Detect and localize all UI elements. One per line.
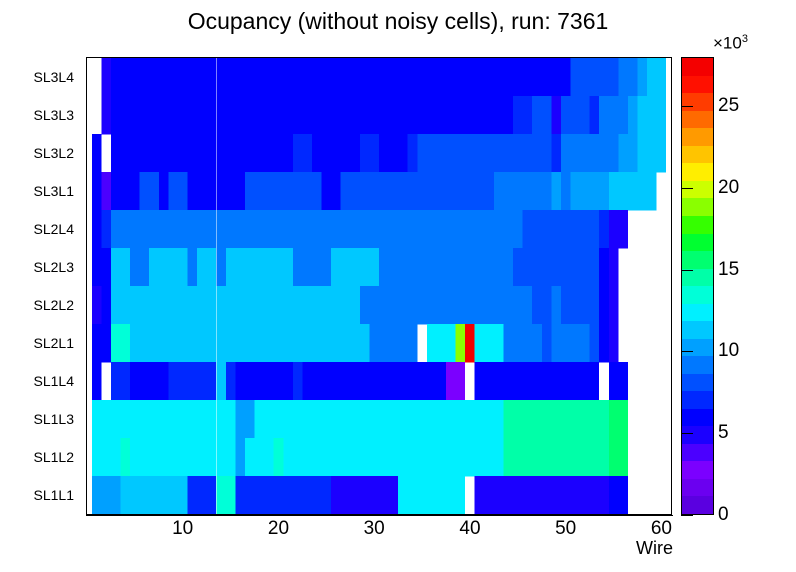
heatmap-cell: [408, 134, 418, 172]
heatmap-cell: [322, 248, 332, 286]
heatmap-cell: [101, 210, 111, 248]
heatmap-cell: [369, 134, 379, 172]
heatmap-cell: [494, 286, 504, 324]
heatmap-cell: [456, 210, 466, 248]
heatmap-cell: [245, 96, 255, 134]
heatmap-cell: [207, 362, 217, 400]
heatmap-cell: [168, 438, 178, 476]
heatmap-cell: [523, 134, 533, 172]
heatmap-cell: [570, 438, 580, 476]
heatmap-cell: [101, 286, 111, 324]
heatmap-cell: [101, 400, 111, 438]
colorbar-band: [682, 321, 713, 339]
heatmap-cell: [235, 362, 245, 400]
heatmap-cell: [130, 438, 140, 476]
heatmap-cell: [331, 438, 341, 476]
heatmap-cell: [599, 96, 609, 134]
heatmap-cell: [389, 400, 399, 438]
heatmap-cell: [121, 248, 131, 286]
heatmap-cell: [197, 438, 207, 476]
heatmap-cell: [130, 58, 140, 96]
heatmap-cell: [255, 96, 265, 134]
y-axis-tick-label-sl3l1: SL3L1: [34, 183, 74, 199]
heatmap-cell: [628, 96, 638, 134]
heatmap-cell: [580, 400, 590, 438]
y-axis-labels: SL3L4SL3L3SL3L2SL3L1SL2L4SL2L3SL2L2SL2L1…: [0, 0, 74, 572]
heatmap-cell: [542, 134, 552, 172]
heatmap-cell: [197, 324, 207, 362]
heatmap-cell: [503, 134, 513, 172]
heatmap-cell: [178, 134, 188, 172]
heatmap-cell: [542, 476, 552, 514]
heatmap-cell: [369, 476, 379, 514]
heatmap-cell: [647, 172, 657, 210]
heatmap-cell: [121, 362, 131, 400]
heatmap-cell: [341, 248, 351, 286]
heatmap-cell: [245, 324, 255, 362]
heatmap-cell: [322, 438, 332, 476]
heatmap-cell: [293, 324, 303, 362]
heatmap-cell: [618, 400, 628, 438]
heatmap-cell: [379, 362, 389, 400]
heatmap-cell: [551, 324, 561, 362]
heatmap-cell: [427, 134, 437, 172]
heatmap-cell: [178, 286, 188, 324]
heatmap-cell: [274, 324, 284, 362]
heatmap-cell: [255, 172, 265, 210]
heatmap-cell: [465, 438, 475, 476]
heatmap-cell: [302, 96, 312, 134]
heatmap-cell: [580, 438, 590, 476]
heatmap-cell: [494, 438, 504, 476]
heatmap-cells: [87, 58, 671, 514]
heatmap-cell: [350, 248, 360, 286]
heatmap-cell: [408, 172, 418, 210]
heatmap-cell: [513, 210, 523, 248]
heatmap-cell: [427, 58, 437, 96]
heatmap-cell: [207, 400, 217, 438]
heatmap-cell: [369, 210, 379, 248]
heatmap-cell: [293, 362, 303, 400]
heatmap-cell: [503, 96, 513, 134]
heatmap-cell: [456, 286, 466, 324]
heatmap-cell: [360, 438, 370, 476]
heatmap-cell: [226, 324, 236, 362]
heatmap-cell: [188, 438, 198, 476]
heatmap-cell: [216, 324, 226, 362]
heatmap-cell: [542, 400, 552, 438]
heatmap-cell: [350, 96, 360, 134]
heatmap-cell: [149, 438, 159, 476]
heatmap-cell: [570, 324, 580, 362]
colorbar-band: [682, 93, 713, 111]
heatmap-cell: [369, 96, 379, 134]
heatmap-cell: [427, 438, 437, 476]
heatmap-cell: [523, 324, 533, 362]
heatmap-cell: [599, 438, 609, 476]
heatmap-cell: [255, 210, 265, 248]
heatmap-cell: [417, 476, 427, 514]
colorbar-band: [682, 426, 713, 444]
heatmap-cell: [178, 438, 188, 476]
heatmap-cell: [446, 400, 456, 438]
colorbar-exponent: ×103: [713, 33, 748, 54]
heatmap-cell: [475, 210, 485, 248]
heatmap-cell: [207, 58, 217, 96]
heatmap-cell: [389, 248, 399, 286]
colorbar-band: [682, 234, 713, 252]
heatmap-cell: [341, 286, 351, 324]
heatmap-cell: [312, 286, 322, 324]
heatmap-cell: [159, 134, 169, 172]
heatmap-cell: [216, 286, 226, 324]
heatmap-cell: [590, 400, 600, 438]
heatmap-cell: [178, 324, 188, 362]
heatmap-cell: [456, 172, 466, 210]
heatmap-cell: [408, 96, 418, 134]
heatmap-cell: [130, 210, 140, 248]
heatmap-cell: [436, 324, 446, 362]
heatmap-cell: [226, 476, 236, 514]
heatmap-cell: [484, 286, 494, 324]
colorbar[interactable]: [681, 57, 714, 515]
heatmap-cell: [580, 324, 590, 362]
heatmap-cell: [159, 248, 169, 286]
heatmap-cell: [523, 248, 533, 286]
heatmap-cell: [341, 210, 351, 248]
heatmap-cell: [264, 172, 274, 210]
heatmap-cell: [609, 476, 619, 514]
y-axis-tick-label-sl2l2: SL2L2: [34, 297, 74, 313]
heatmap-cell: [389, 324, 399, 362]
heatmap-cell: [350, 172, 360, 210]
heatmap-cell: [216, 400, 226, 438]
heatmap-cell: [484, 134, 494, 172]
heatmap-cell: [235, 96, 245, 134]
heatmap-cell: [283, 400, 293, 438]
heatmap-cell: [513, 400, 523, 438]
heatmap-cell: [618, 58, 628, 96]
heatmap-cell: [427, 476, 437, 514]
heatmap-cell: [178, 476, 188, 514]
heatmap-cell: [312, 248, 322, 286]
x-axis-tick-label: 30: [364, 518, 385, 540]
heatmap-cell: [647, 96, 657, 134]
heatmap-cell: [264, 210, 274, 248]
heatmap-cell: [235, 400, 245, 438]
heatmap-cell: [494, 362, 504, 400]
heatmap-cell: [599, 172, 609, 210]
heatmap-cell: [465, 172, 475, 210]
heatmap-cell: [226, 286, 236, 324]
heatmap-cell: [618, 476, 628, 514]
heatmap-cell: [264, 96, 274, 134]
colorbar-band: [682, 391, 713, 409]
heatmap-cell: [379, 134, 389, 172]
heatmap-cell: [398, 172, 408, 210]
colorbar-band: [682, 163, 713, 181]
heatmap-cell: [542, 210, 552, 248]
heatmap-cell: [350, 58, 360, 96]
heatmap-cell: [436, 134, 446, 172]
heatmap-cell: [178, 362, 188, 400]
heatmap-cell: [140, 172, 150, 210]
heatmap-cell: [417, 210, 427, 248]
heatmap-cell: [427, 248, 437, 286]
heatmap-cell: [130, 324, 140, 362]
heatmap-cell: [216, 248, 226, 286]
heatmap-cell: [149, 210, 159, 248]
heatmap-cell: [130, 134, 140, 172]
heatmap-cell: [446, 362, 456, 400]
heatmap-cell: [599, 324, 609, 362]
heatmap-cell: [322, 400, 332, 438]
colorbar-band: [682, 198, 713, 216]
heatmap-cell: [561, 286, 571, 324]
heatmap-cell: [121, 172, 131, 210]
heatmap-cell: [188, 58, 198, 96]
heatmap-cell: [590, 248, 600, 286]
heatmap-cell: [149, 286, 159, 324]
heatmap-cell: [264, 248, 274, 286]
heatmap-cell: [417, 286, 427, 324]
heatmap-cell: [360, 210, 370, 248]
heatmap-cell: [149, 96, 159, 134]
heatmap-cell: [264, 286, 274, 324]
heatmap-cell: [532, 438, 542, 476]
heatmap-cell: [456, 248, 466, 286]
heatmap-cell: [140, 134, 150, 172]
heatmap-cell: [398, 58, 408, 96]
heatmap-cell: [92, 324, 102, 362]
heatmap-cell: [322, 476, 332, 514]
heatmap-cell: [542, 362, 552, 400]
heatmap-cell: [360, 134, 370, 172]
heatmap-cell: [312, 438, 322, 476]
heatmap-cell: [551, 96, 561, 134]
heatmap-cell: [580, 210, 590, 248]
heatmap-cell: [609, 96, 619, 134]
heatmap-cell: [235, 438, 245, 476]
heatmap-cell: [322, 172, 332, 210]
heatmap-cell: [570, 210, 580, 248]
heatmap-cell: [628, 58, 638, 96]
heatmap-cell: [341, 438, 351, 476]
heatmap-cell: [389, 58, 399, 96]
heatmap-cell: [551, 400, 561, 438]
heatmap-cell: [408, 324, 418, 362]
heatmap-cell: [111, 400, 121, 438]
heatmap-cell: [398, 400, 408, 438]
colorbar-band: [682, 444, 713, 462]
heatmap-cell: [618, 172, 628, 210]
heatmap-cell: [130, 172, 140, 210]
heatmap-cell: [494, 324, 504, 362]
heatmap-cell: [494, 58, 504, 96]
heatmap-cell: [207, 172, 217, 210]
heatmap-cell: [111, 438, 121, 476]
heatmap-cell: [417, 172, 427, 210]
heatmap-plot-area[interactable]: [86, 57, 672, 515]
heatmap-cell: [436, 476, 446, 514]
heatmap-cell: [121, 324, 131, 362]
heatmap-cell: [657, 96, 667, 134]
heatmap-cell: [570, 476, 580, 514]
heatmap-cell: [159, 210, 169, 248]
heatmap-cell: [609, 438, 619, 476]
heatmap-cell: [216, 172, 226, 210]
heatmap-cell: [121, 476, 131, 514]
heatmap-cell: [350, 476, 360, 514]
heatmap-cell: [503, 286, 513, 324]
heatmap-cell: [130, 248, 140, 286]
colorbar-tick-label: 10: [718, 340, 739, 362]
colorbar-band: [682, 111, 713, 129]
colorbar-tick: [681, 270, 693, 271]
colorbar-band: [682, 128, 713, 146]
heatmap-cell: [417, 248, 427, 286]
heatmap-cell: [542, 96, 552, 134]
colorbar-band: [682, 76, 713, 94]
heatmap-cell: [235, 210, 245, 248]
heatmap-cell: [427, 286, 437, 324]
heatmap-cell: [130, 476, 140, 514]
heatmap-cell: [475, 58, 485, 96]
heatmap-cell: [398, 134, 408, 172]
heatmap-cell: [302, 210, 312, 248]
heatmap-cell: [111, 172, 121, 210]
heatmap-cell: [523, 476, 533, 514]
heatmap-cell: [532, 172, 542, 210]
heatmap-cell: [523, 362, 533, 400]
heatmap-cell: [446, 324, 456, 362]
heatmap-cell: [360, 362, 370, 400]
heatmap-cell: [570, 134, 580, 172]
heatmap-cell: [389, 286, 399, 324]
heatmap-cell: [580, 476, 590, 514]
heatmap-cell: [130, 400, 140, 438]
heatmap-cell: [207, 96, 217, 134]
heatmap-cell: [312, 324, 322, 362]
heatmap-cell: [350, 210, 360, 248]
heatmap-cell: [322, 210, 332, 248]
heatmap-cell: [475, 248, 485, 286]
heatmap-cell: [503, 210, 513, 248]
heatmap-cell: [484, 58, 494, 96]
heatmap-cell: [360, 248, 370, 286]
heatmap-cell: [523, 210, 533, 248]
heatmap-cell: [188, 248, 198, 286]
heatmap-cell: [302, 362, 312, 400]
y-axis-line: [86, 57, 87, 516]
heatmap-cell: [188, 400, 198, 438]
heatmap-cell: [264, 324, 274, 362]
heatmap-cell: [216, 362, 226, 400]
heatmap-cell: [245, 248, 255, 286]
heatmap-cell: [389, 362, 399, 400]
heatmap-cell: [207, 210, 217, 248]
heatmap-cell: [417, 58, 427, 96]
heatmap-cell: [178, 248, 188, 286]
heatmap-cell: [101, 438, 111, 476]
heatmap-cell: [121, 286, 131, 324]
heatmap-cell: [188, 362, 198, 400]
heatmap-cell: [590, 134, 600, 172]
heatmap-cell: [207, 134, 217, 172]
colorbar-band: [682, 251, 713, 269]
heatmap-cell: [302, 400, 312, 438]
heatmap-cell: [283, 58, 293, 96]
heatmap-cell: [188, 286, 198, 324]
heatmap-cell: [283, 134, 293, 172]
heatmap-cell: [197, 96, 207, 134]
heatmap-cell: [484, 438, 494, 476]
heatmap-cell: [226, 438, 236, 476]
heatmap-cell: [101, 324, 111, 362]
heatmap-cell: [446, 248, 456, 286]
heatmap-cell: [465, 324, 475, 362]
heatmap-cell: [590, 58, 600, 96]
heatmap-cell: [255, 58, 265, 96]
heatmap-cell: [609, 58, 619, 96]
page-title: Ocupancy (without noisy cells), run: 736…: [0, 8, 796, 35]
heatmap-cell: [609, 134, 619, 172]
heatmap-cell: [561, 476, 571, 514]
heatmap-cell: [475, 96, 485, 134]
heatmap-cell: [503, 362, 513, 400]
heatmap-cell: [197, 134, 207, 172]
heatmap-cell: [283, 476, 293, 514]
heatmap-cell: [551, 438, 561, 476]
heatmap-cell: [465, 400, 475, 438]
heatmap-cell: [111, 362, 121, 400]
heatmap-cell: [149, 134, 159, 172]
heatmap-cell: [226, 58, 236, 96]
y-axis-tick-label-sl2l1: SL2L1: [34, 335, 74, 351]
heatmap-cell: [523, 96, 533, 134]
heatmap-cell: [389, 96, 399, 134]
heatmap-cell: [657, 58, 667, 96]
heatmap-cell: [657, 134, 667, 172]
heatmap-cell: [561, 58, 571, 96]
colorbar-tick: [681, 351, 693, 352]
heatmap-cell: [283, 96, 293, 134]
heatmap-cell: [331, 362, 341, 400]
heatmap-cell: [331, 476, 341, 514]
heatmap-cell: [293, 96, 303, 134]
heatmap-cell: [92, 286, 102, 324]
heatmap-cell: [503, 248, 513, 286]
heatmap-cell: [475, 400, 485, 438]
heatmap-cell: [207, 248, 217, 286]
colorbar-band: [682, 216, 713, 234]
heatmap-cell: [360, 58, 370, 96]
heatmap-cell: [379, 210, 389, 248]
heatmap-cell: [427, 96, 437, 134]
heatmap-cell: [283, 248, 293, 286]
heatmap-cell: [274, 134, 284, 172]
heatmap-cell: [580, 248, 590, 286]
heatmap-cell: [245, 476, 255, 514]
heatmap-cell: [149, 248, 159, 286]
heatmap-cell: [188, 476, 198, 514]
heatmap-cell: [609, 248, 619, 286]
heatmap-cell: [121, 400, 131, 438]
heatmap-cell: [92, 400, 102, 438]
heatmap-cell: [159, 96, 169, 134]
heatmap-cell: [178, 96, 188, 134]
heatmap-cell: [561, 172, 571, 210]
